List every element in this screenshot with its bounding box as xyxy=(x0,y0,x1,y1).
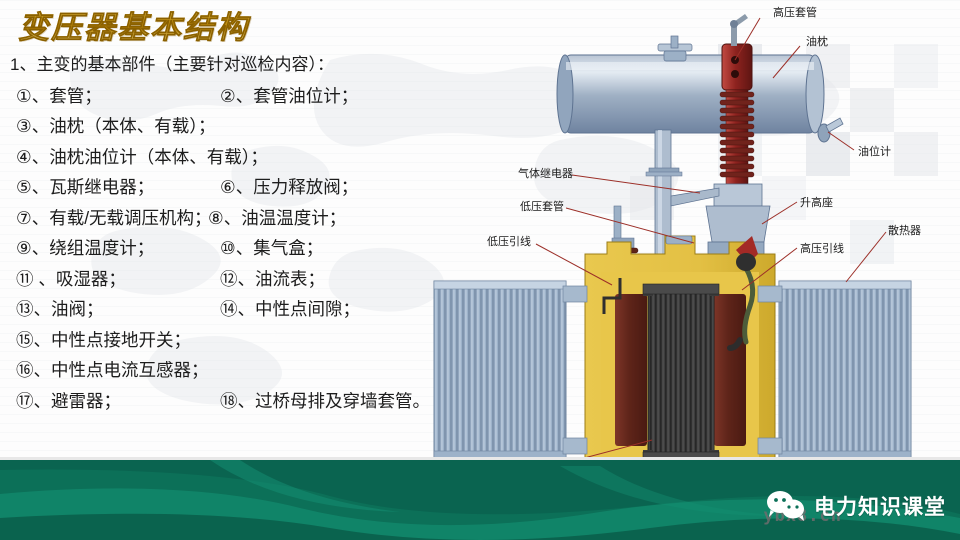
slide-canvas: 变压器基本结构 1、主变的基本部件（主要针对巡检内容）： ①、套管； ②、套管油… xyxy=(0,0,960,540)
upper-arm xyxy=(671,188,719,206)
callout-hv-bushing: 高压套管 xyxy=(773,4,817,20)
oil-conservator-tank xyxy=(557,55,824,133)
heading-text: 1、主变的基本部件（主要针对巡检内容）： xyxy=(10,50,334,81)
list-item: ⑮、中性点接地开关； xyxy=(8,325,478,356)
list-heading: 1、主变的基本部件（主要针对巡检内容）： xyxy=(8,50,478,81)
list-item: ⑪ 、吸湿器； ⑫、油流表； xyxy=(8,264,478,295)
radiator-left xyxy=(434,281,587,459)
list-item: ④、油枕油位计（本体、有载）； xyxy=(8,142,478,173)
radiator-right xyxy=(758,281,911,459)
callout-oil-level-gauge: 油位计 xyxy=(858,143,891,159)
list-item: ③、油枕（本体、有载）； xyxy=(8,111,478,142)
gas-relay xyxy=(646,172,682,176)
list-item-left: ⑯、中性点电流互感器； xyxy=(16,355,209,386)
callout-lv-bushing: 低压套管 xyxy=(520,198,564,214)
list-item: ⑨、绕组温度计； ⑩、集气盒； xyxy=(8,233,478,264)
list-item: ⑰、避雷器； ⑱、过桥母排及穿墙套管。 xyxy=(8,386,478,417)
list-item-left: ⑬、油阀； xyxy=(16,294,104,325)
list-item-left: ⑪ 、吸湿器； xyxy=(16,264,126,295)
list-item-left: ①、套管； xyxy=(16,81,102,112)
list-item-right: ⑧、油温温度计； xyxy=(208,203,346,234)
list-item: ⑬、油阀； ⑭、中性点间隙； xyxy=(8,294,478,325)
list-item: ⑦、有载/无载调压机构； ⑧、油温温度计； xyxy=(8,203,478,234)
list-item-left: ⑦、有载/无载调压机构； xyxy=(16,203,212,234)
list-item-left: ③、油枕（本体、有载）； xyxy=(16,111,215,142)
wechat-icon xyxy=(766,490,806,522)
list-item-left: ⑤、瓦斯继电器； xyxy=(16,172,154,203)
content-list: 1、主变的基本部件（主要针对巡检内容）： ①、套管； ②、套管油位计； ③、油枕… xyxy=(8,50,478,416)
callout-riser-seat: 升高座 xyxy=(800,194,833,210)
list-item: ⑤、瓦斯继电器； ⑥、压力释放阀； xyxy=(8,172,478,203)
brand-name: 电力知识课堂 xyxy=(814,491,946,521)
list-item-right: ②、套管油位计； xyxy=(220,81,358,112)
list-item-right: ⑩、集气盒； xyxy=(220,233,323,264)
brand-block: 电力知识课堂 xyxy=(766,490,946,522)
list-item-left: ④、油枕油位计（本体、有载）； xyxy=(16,142,268,173)
list-item-right: ⑫、油流表； xyxy=(220,264,325,295)
list-item-left: ⑰、避雷器； xyxy=(16,386,121,417)
callout-radiator: 散热器 xyxy=(888,222,921,238)
callout-lv-lead: 低压引线 xyxy=(487,233,531,249)
list-item-right: ⑭、中性点间隙； xyxy=(220,294,360,325)
winding-right xyxy=(714,294,746,446)
iron-core-limb xyxy=(648,288,714,458)
callout-gas-relay: 气体继电器 xyxy=(518,165,573,181)
callout-conservator: 油枕 xyxy=(806,33,828,49)
transformer-tank xyxy=(585,236,775,478)
list-item-right: ⑥、压力释放阀； xyxy=(220,172,358,203)
winding-left xyxy=(615,294,647,446)
list-item-left: ⑨、绕组温度计； xyxy=(16,233,154,264)
list-item: ①、套管； ②、套管油位计； xyxy=(8,81,478,112)
page-title: 变压器基本结构 xyxy=(18,2,249,47)
callout-hv-lead: 高压引线 xyxy=(800,240,844,256)
list-item-left: ⑮、中性点接地开关； xyxy=(16,325,191,356)
list-item-right: ⑱、过桥母排及穿墙套管。 xyxy=(220,386,430,417)
list-item: ⑯、中性点电流互感器； xyxy=(8,355,478,386)
